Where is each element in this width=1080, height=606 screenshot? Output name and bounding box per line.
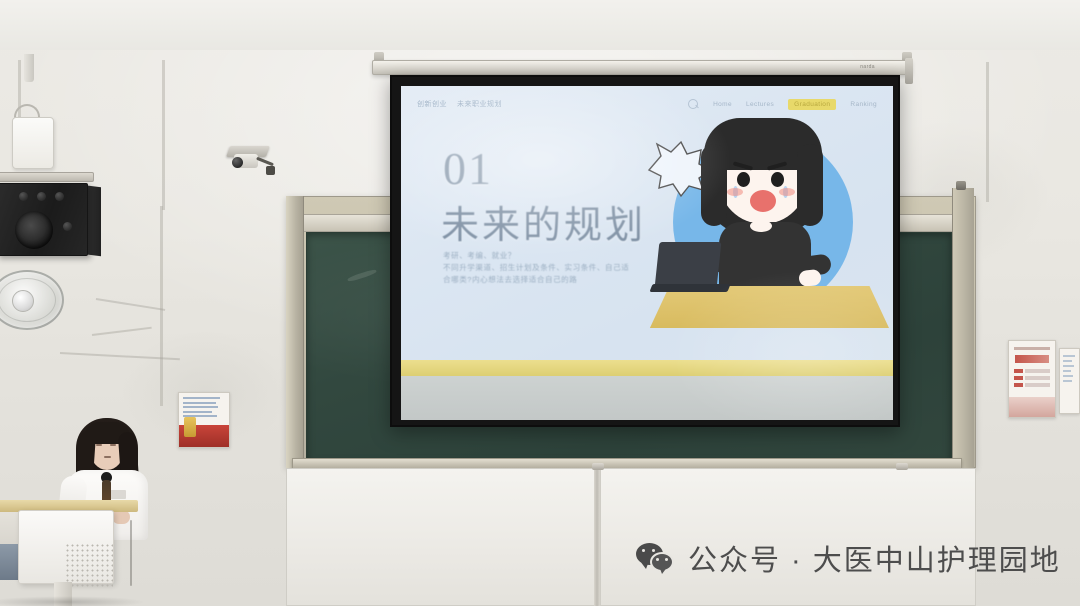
character-blush bbox=[727, 188, 743, 196]
camera-mount bbox=[266, 166, 275, 175]
nav-item-ranking: Ranking bbox=[850, 101, 877, 108]
character-hair-side bbox=[797, 144, 823, 226]
wall-conduit bbox=[160, 206, 163, 406]
presenter-mouth bbox=[104, 456, 111, 458]
slide-subtitle-line: 考研、考编、就业？ bbox=[443, 250, 663, 262]
whiteboard-panel bbox=[286, 468, 596, 606]
poster-rows bbox=[1014, 369, 1050, 390]
illustration-desk bbox=[645, 286, 889, 328]
wifi-access-point bbox=[12, 117, 54, 169]
slide-section-number: 01 bbox=[443, 142, 493, 195]
slide-subtitle-line: 合哪类?内心想法去选择适合自己的路 bbox=[443, 274, 663, 286]
chalk-mark bbox=[347, 268, 377, 282]
camera-lens-icon bbox=[232, 157, 243, 168]
floor-cable bbox=[130, 520, 132, 586]
board-hook bbox=[956, 181, 966, 190]
camera-arm bbox=[256, 157, 274, 167]
character-collar bbox=[750, 220, 772, 232]
wall-speaker bbox=[0, 183, 88, 256]
lectern-body bbox=[18, 510, 114, 584]
slide-title: 未来的规划 bbox=[441, 194, 646, 249]
slide-subtitle: 考研、考编、就业？ 不同升学渠道、招生计划及条件、实习条件、自己适 合哪类?内心… bbox=[443, 250, 663, 286]
speaker-cone bbox=[15, 211, 53, 249]
presenter-eye bbox=[96, 444, 102, 446]
speaker-bracket bbox=[0, 172, 94, 182]
fan-neck bbox=[24, 54, 34, 82]
laptop-base bbox=[649, 284, 730, 292]
slide-illustration bbox=[649, 110, 885, 390]
watermark: 公众号 · 大医中山护理园地 bbox=[636, 537, 1061, 579]
character-hair-side bbox=[701, 144, 727, 226]
poster-text-lines bbox=[1063, 355, 1076, 385]
wall-conduit bbox=[162, 60, 165, 210]
presentation-slide: 创新创业 未来职业规划 Home Lectures Graduation Ran… bbox=[401, 86, 893, 420]
speaker-knob bbox=[55, 192, 64, 201]
wall-fan bbox=[0, 270, 64, 330]
lectern-shadow bbox=[0, 596, 146, 606]
chalkboard-right-rail bbox=[952, 188, 974, 470]
projector-brand-label: narda bbox=[860, 64, 875, 70]
whiteboard-clip bbox=[896, 463, 908, 470]
poster-left-wall bbox=[178, 392, 230, 448]
character-eye bbox=[771, 172, 784, 187]
lectern-speaker-grill bbox=[65, 543, 113, 589]
chalkboard-left-rail bbox=[286, 196, 304, 468]
slide-nav: Home Lectures Graduation Ranking bbox=[688, 99, 877, 110]
slide-footer-band bbox=[401, 376, 893, 420]
speaker-knob bbox=[63, 222, 72, 231]
laptop-icon bbox=[655, 242, 722, 288]
poster-right-wall-b bbox=[1059, 348, 1080, 414]
character-mouth bbox=[750, 190, 776, 212]
slide-brand-text-1: 创新创业 bbox=[417, 99, 447, 109]
lectern-side-panel bbox=[0, 544, 18, 580]
search-icon bbox=[688, 99, 699, 110]
screen-endcap bbox=[905, 58, 913, 84]
watermark-text: 公众号 · 大医中山护理园地 bbox=[688, 537, 1061, 579]
poster-right-wall-a bbox=[1008, 340, 1056, 418]
character-blush bbox=[779, 188, 795, 196]
slide-brand: 创新创业 未来职业规划 bbox=[417, 99, 502, 109]
speaker-knob bbox=[37, 192, 46, 201]
character-eye bbox=[737, 172, 750, 187]
nav-item-graduation: Graduation bbox=[788, 99, 836, 110]
speaker-knob bbox=[19, 192, 28, 201]
wechat-icon bbox=[636, 543, 676, 573]
poster-header-line bbox=[1014, 347, 1050, 350]
slide-subtitle-line: 不同升学渠道、招生计划及条件、实习条件、自己适 bbox=[443, 262, 663, 274]
whiteboard-clip bbox=[592, 463, 604, 470]
lectern bbox=[0, 500, 138, 606]
fan-hub bbox=[12, 290, 34, 312]
classroom-scene: narda 创新创业 未来职业规划 Home Lectures Graduati… bbox=[0, 0, 1080, 606]
nav-item-lectures: Lectures bbox=[746, 101, 774, 108]
nav-item-home: Home bbox=[713, 101, 732, 108]
poster-title-block bbox=[1015, 355, 1049, 363]
projection-screen: 创新创业 未来职业规划 Home Lectures Graduation Ran… bbox=[390, 75, 900, 427]
projector-screen-housing: narda bbox=[372, 60, 912, 75]
poster-figure bbox=[184, 417, 196, 437]
ceiling bbox=[0, 0, 1080, 50]
slide-accent-band bbox=[401, 360, 893, 376]
whiteboard-divider bbox=[594, 468, 600, 606]
poster-footer-graphic bbox=[1009, 397, 1055, 417]
wall-conduit bbox=[986, 62, 989, 202]
presenter-eye bbox=[110, 444, 116, 446]
slide-brand-text-2: 未来职业规划 bbox=[457, 99, 502, 109]
security-camera bbox=[228, 140, 276, 182]
